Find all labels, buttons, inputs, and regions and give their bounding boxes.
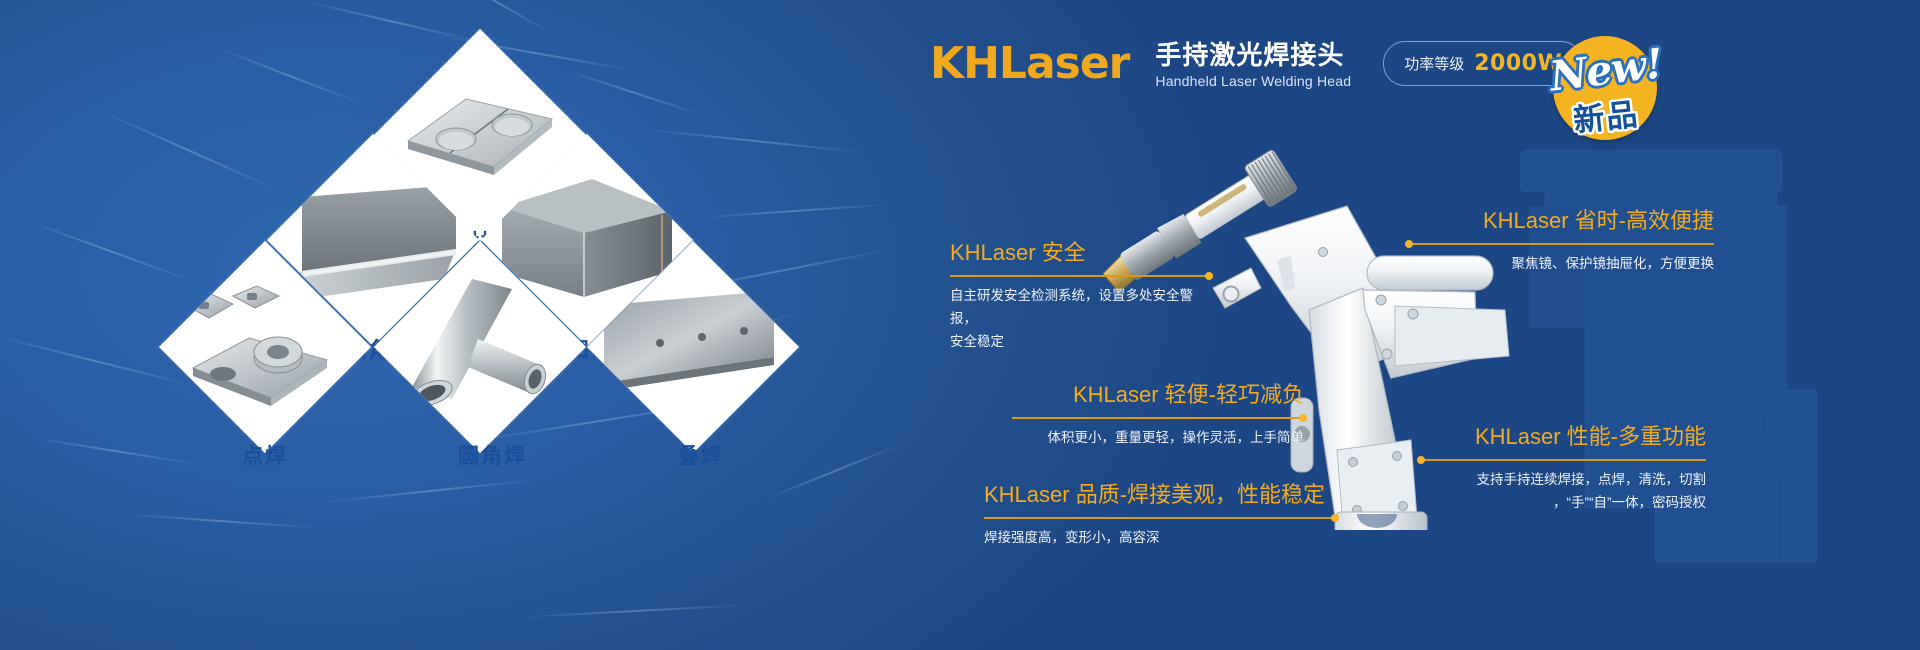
feature-desc-quality: 焊接强度高，变形小，高容深 [984,527,1336,550]
feature-title-time-saving: KHLaser 省时-高效便捷 [1408,208,1714,234]
page-subtitle: Handheld Laser Welding Head [1155,74,1351,89]
weld-label-spot-weld: 点焊 [242,440,288,470]
feature-rule-lightweight [1012,417,1304,419]
feature-callout-safety: KHLaser 安全 自主研发安全检测系统，设置多处安全警报， 安全稳定 [950,240,1210,354]
page-title: 手持激光焊接头 [1155,41,1351,71]
feature-rule-performance [1420,459,1706,461]
feature-callout-performance: KHLaser 性能-多重功能 支持手持连续焊接，点焊，清洗，切割 ，“手”“自… [1420,424,1706,515]
feature-rule-quality [984,517,1336,519]
feature-desc-performance: 支持手持连续焊接，点焊，清洗，切割 ，“手”“自”一体，密码授权 [1420,469,1706,515]
feature-rule-time-saving [1408,243,1714,245]
feature-title-performance: KHLaser 性能-多重功能 [1420,424,1706,450]
weld-label-lap-weld: 叠焊 [678,440,724,470]
feature-rule-safety [950,275,1210,277]
feature-dot-time-saving [1405,240,1413,248]
feature-desc-safety: 自主研发安全检测系统，设置多处安全警报， 安全稳定 [950,285,1210,354]
product-header: KHLaser 手持激光焊接头 Handheld Laser Welding H… [930,38,1583,89]
promo-banner: 对接焊 阴角焊 [0,0,1920,650]
feature-title-safety: KHLaser 安全 [950,240,1210,266]
feature-title-quality: KHLaser 品质-焊接美观，性能稳定 [984,482,1336,508]
feature-callout-lightweight: KHLaser 轻便-轻巧减负 体积更小，重量更轻，操作灵活，上手简单 [1012,382,1304,450]
weld-type-diamond-grid: 对接焊 阴角焊 [150,40,810,550]
weld-label-fillet-weld: 圆角焊 [458,440,527,470]
brand-logo: KHLaser [930,42,1129,86]
product-title-block: 手持激光焊接头 Handheld Laser Welding Head [1155,38,1351,89]
feature-dot-performance [1417,456,1425,464]
feature-desc-time-saving: 聚焦镜、保护镜抽屉化，方便更换 [1408,253,1714,276]
feature-callout-quality: KHLaser 品质-焊接美观，性能稳定 焊接强度高，变形小，高容深 [984,482,1336,550]
feature-desc-lightweight: 体积更小，重量更轻，操作灵活，上手简单 [1012,427,1304,450]
feature-title-lightweight: KHLaser 轻便-轻巧减负 [1012,382,1304,408]
power-rating-label: 功率等级 [1404,53,1464,74]
feature-callout-time-saving: KHLaser 省时-高效便捷 聚焦镜、保护镜抽屉化，方便更换 [1408,208,1714,276]
